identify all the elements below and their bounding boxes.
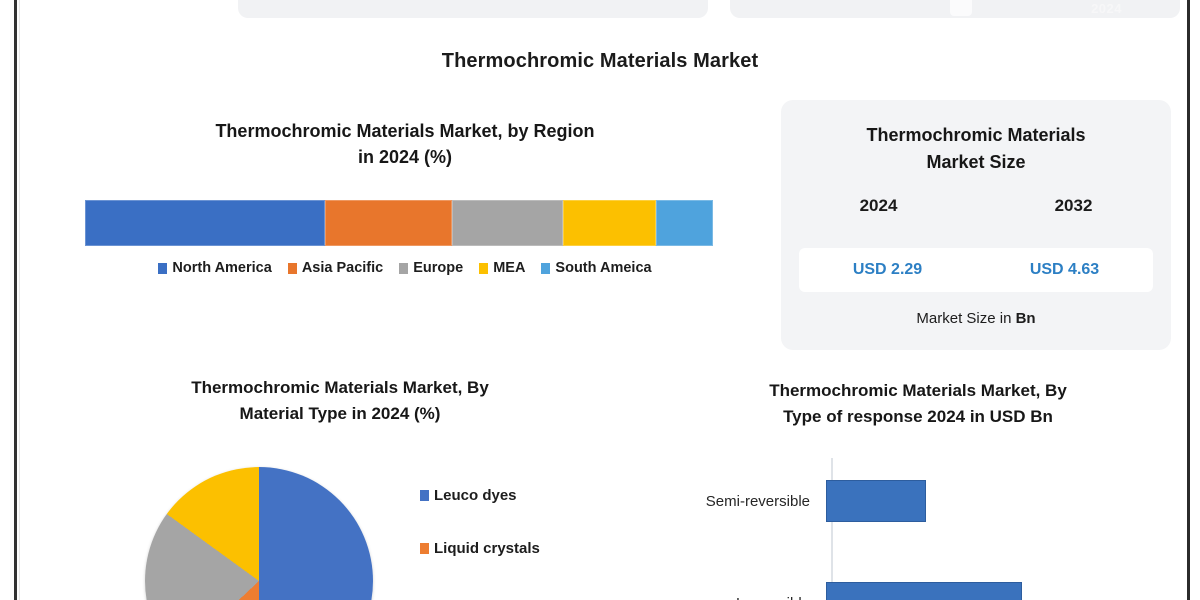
type-of-response-category-label: Irreversible (648, 595, 826, 600)
market-size-title-line2: Market Size (781, 149, 1171, 176)
frame-inner-line-left (19, 0, 20, 600)
market-size-title: Thermochromic Materials Market Size (781, 122, 1171, 176)
region-legend-item-3: MEA (479, 260, 525, 276)
market-size-years: 2024 2032 (781, 196, 1171, 216)
legend-swatch-icon (420, 490, 429, 501)
legend-swatch-icon (479, 263, 488, 274)
region-legend-label: Asia Pacific (302, 260, 383, 276)
material-type-legend: Leuco dyesLiquid crystals (420, 487, 540, 593)
top-panel-left-clipped (238, 0, 708, 18)
type-of-response-category-label: Semi-reversible (648, 493, 826, 510)
material-type-pie-holder (145, 467, 385, 600)
region-chart-legend: North AmericaAsia PacificEuropeMEASouth … (65, 260, 745, 276)
region-legend-item-2: Europe (399, 260, 463, 276)
type-of-response-chart-block: Thermochromic Materials Market, By Type … (648, 378, 1188, 600)
region-chart-block: Thermochromic Materials Market, by Regio… (55, 118, 755, 170)
frame-border-left (14, 0, 17, 600)
region-chart-title-line1: Thermochromic Materials Market, by Regio… (75, 118, 735, 144)
material-type-legend-item-0: Leuco dyes (420, 487, 540, 504)
market-size-value-start: USD 2.29 (853, 261, 922, 279)
region-chart-title: Thermochromic Materials Market, by Regio… (75, 118, 735, 170)
market-size-value-end: USD 4.63 (1030, 261, 1099, 279)
legend-swatch-icon (158, 263, 167, 274)
type-of-response-chart-title: Thermochromic Materials Market, By Type … (668, 378, 1168, 429)
type-of-response-row: Irreversible (648, 578, 1188, 600)
type-of-response-bar (826, 582, 1022, 600)
region-chart-title-line2: in 2024 (%) (75, 144, 735, 170)
type-of-response-title-line2: Type of response 2024 in USD Bn (668, 404, 1168, 430)
material-type-legend-label: Liquid crystals (434, 540, 540, 557)
type-of-response-row: Semi-reversible (648, 476, 1188, 526)
type-of-response-plot: Semi-reversibleIrreversible (648, 458, 1188, 600)
market-size-title-line1: Thermochromic Materials (781, 122, 1171, 149)
region-bar-segment-europe (452, 200, 563, 246)
market-size-footer-unit: Bn (1016, 310, 1036, 327)
region-legend-item-1: Asia Pacific (288, 260, 383, 276)
legend-swatch-icon (399, 263, 408, 274)
market-size-values: USD 2.29 USD 4.63 (799, 248, 1153, 292)
material-type-pie-chart (145, 467, 373, 600)
infographic-canvas: 2024 Thermochromic Materials Market Ther… (0, 0, 1200, 600)
region-stacked-bar (85, 200, 713, 246)
type-of-response-bar (826, 480, 926, 522)
region-legend-label: North America (172, 260, 271, 276)
region-bar-segment-north-america (85, 200, 325, 246)
market-size-year-start: 2024 (860, 196, 898, 216)
region-legend-item-0: North America (158, 260, 271, 276)
market-size-year-end: 2032 (1055, 196, 1093, 216)
region-bar-segment-asia-pacific (325, 200, 452, 246)
market-size-footer-prefix: Market Size in (916, 310, 1015, 327)
type-of-response-title-line1: Thermochromic Materials Market, By (668, 378, 1168, 404)
region-legend-item-4: South Ameica (541, 260, 651, 276)
legend-swatch-icon (288, 263, 297, 274)
region-legend-label: Europe (413, 260, 463, 276)
page-title: Thermochromic Materials Market (0, 50, 1200, 73)
region-bar-segment-mea (563, 200, 656, 246)
material-type-title-line2: Material Type in 2024 (%) (80, 401, 600, 427)
region-legend-label: MEA (493, 260, 525, 276)
region-legend-label: South Ameica (555, 260, 651, 276)
material-type-chart-title: Thermochromic Materials Market, By Mater… (80, 375, 600, 426)
legend-swatch-icon (420, 543, 429, 554)
region-bar-segment-south-ameica (656, 200, 713, 246)
top-panel-ghost-text: 2024 (1091, 1, 1122, 16)
legend-swatch-icon (541, 263, 550, 274)
market-size-footer: Market Size in Bn (781, 310, 1171, 327)
material-type-title-line1: Thermochromic Materials Market, By (80, 375, 600, 401)
material-type-legend-label: Leuco dyes (434, 487, 517, 504)
market-size-panel: Thermochromic Materials Market Size 2024… (781, 100, 1171, 350)
material-type-legend-item-1: Liquid crystals (420, 540, 540, 557)
top-panel-notch (950, 0, 972, 16)
material-type-chart-block: Thermochromic Materials Market, By Mater… (60, 375, 620, 600)
